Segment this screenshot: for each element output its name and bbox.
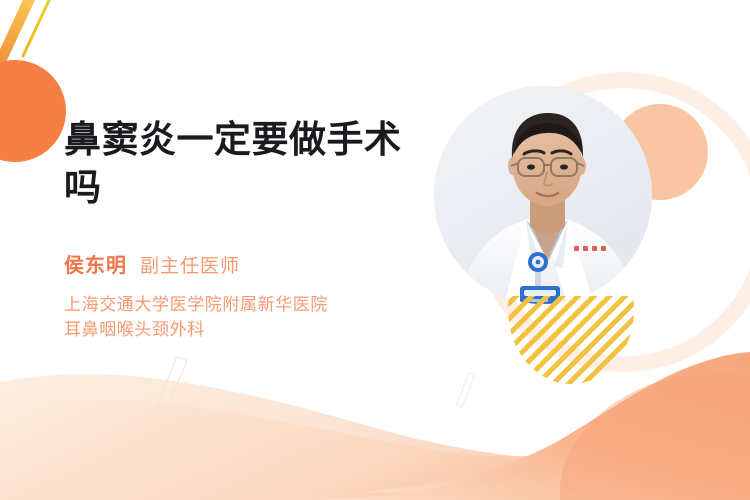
doctor-affiliation: 上海交通大学医学院附属新华医院 耳鼻咽喉头颈外科 [64,292,424,342]
doctor-name: 侯东明 [64,249,127,278]
card-content: 鼻窦炎一定要做手术吗 侯东明 副主任医师 上海交通大学医学院附属新华医院 耳鼻咽… [0,0,750,500]
affiliation-hospital: 上海交通大学医学院附属新华医院 [64,292,424,317]
affiliation-department: 耳鼻咽喉头颈外科 [64,317,424,342]
page-title: 鼻窦炎一定要做手术吗 [64,116,414,212]
doctor-byline: 侯东明 副主任医师 [64,249,240,278]
doctor-info-card: 鼻窦炎一定要做手术吗 侯东明 副主任医师 上海交通大学医学院附属新华医院 耳鼻咽… [0,0,750,500]
doctor-professional-title: 副主任医师 [140,251,240,278]
